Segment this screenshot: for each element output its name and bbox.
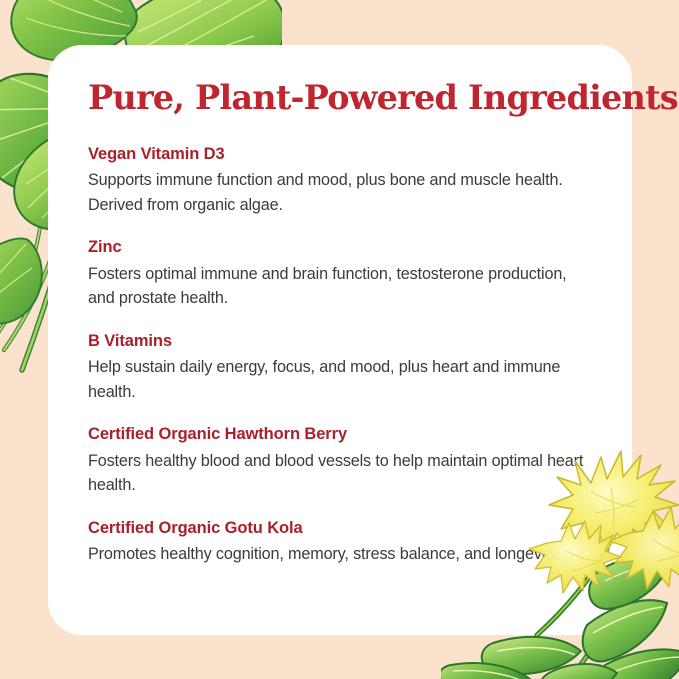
ingredient-name: Certified Organic Gotu Kola — [88, 517, 602, 539]
ingredient-item-b-vitamins: B Vitamins Help sustain daily energy, fo… — [88, 330, 602, 405]
ingredient-name: Zinc — [88, 236, 602, 258]
ingredient-description: Supports immune function and mood, plus … — [88, 168, 588, 217]
ingredients-card: Pure, Plant-Powered Ingredients Vegan Vi… — [48, 45, 632, 635]
ingredient-item-gotu-kola: Certified Organic Gotu Kola Promotes hea… — [88, 517, 602, 567]
ingredient-name: Certified Organic Hawthorn Berry — [88, 423, 602, 445]
ingredient-item-hawthorn-berry: Certified Organic Hawthorn Berry Fosters… — [88, 423, 602, 498]
card-content: Pure, Plant-Powered Ingredients Vegan Vi… — [88, 80, 602, 567]
ingredient-description: Help sustain daily energy, focus, and mo… — [88, 355, 588, 404]
ingredient-description: Promotes healthy cognition, memory, stre… — [88, 542, 588, 567]
ingredients-poster: Pure, Plant-Powered Ingredients Vegan Vi… — [0, 0, 679, 679]
ingredient-item-zinc: Zinc Fosters optimal immune and brain fu… — [88, 236, 602, 311]
ingredient-name: B Vitamins — [88, 330, 602, 352]
ingredient-name: Vegan Vitamin D3 — [88, 143, 602, 165]
ingredient-description: Fosters optimal immune and brain functio… — [88, 262, 588, 311]
ingredient-item-vegan-vitamin-d3: Vegan Vitamin D3 Supports immune functio… — [88, 143, 602, 218]
page-title: Pure, Plant-Powered Ingredients — [88, 80, 602, 117]
ingredient-description: Fosters healthy blood and blood vessels … — [88, 449, 588, 498]
